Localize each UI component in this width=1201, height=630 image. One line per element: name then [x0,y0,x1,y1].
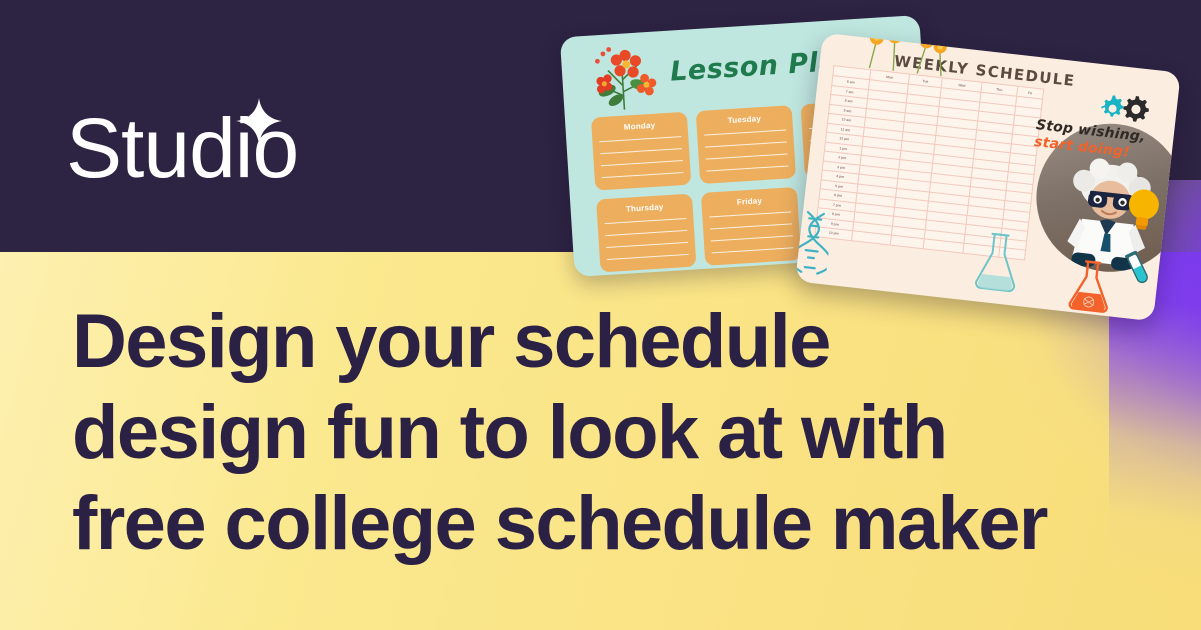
promo-banner: Studio [0,0,1201,630]
day-label: Tuesday [696,112,792,127]
weekly-schedule-table[interactable]: Mon Tue Wed Thu Fri 6 am 7 am 8 am 9 am … [814,65,1044,260]
day-label: Thursday [597,201,693,216]
red-flower-icon [584,37,666,116]
day-box[interactable]: Tuesday [696,105,796,184]
writing-lines [605,218,690,271]
writing-lines [704,130,789,183]
day-box[interactable]: Monday [591,112,691,191]
lightbulb-icon [1123,186,1164,234]
day-label: Monday [591,119,687,134]
sparkle-icon [236,98,282,144]
day-label: Friday [701,194,797,209]
headline-line-1: Design your schedule [72,296,1182,387]
brand-logo[interactable]: Studio [66,106,298,190]
weekly-schedule-card[interactable]: WEEKLY SCHEDULE Mon Tue Wed Thu Fri 6 am… [795,33,1181,322]
writing-lines [599,136,684,189]
writing-lines [709,211,794,264]
page-title: Design your schedule design fun to look … [72,296,1182,569]
headline-line-2: design fun to look at with [72,387,1182,478]
headline-line-3: free college schedule maker [72,478,1182,569]
gear-icon [1097,92,1154,126]
day-box[interactable]: Thursday [596,194,696,273]
test-tube-icon [1121,250,1155,287]
flask-icon [971,229,1023,294]
day-box[interactable]: Friday [701,187,801,266]
